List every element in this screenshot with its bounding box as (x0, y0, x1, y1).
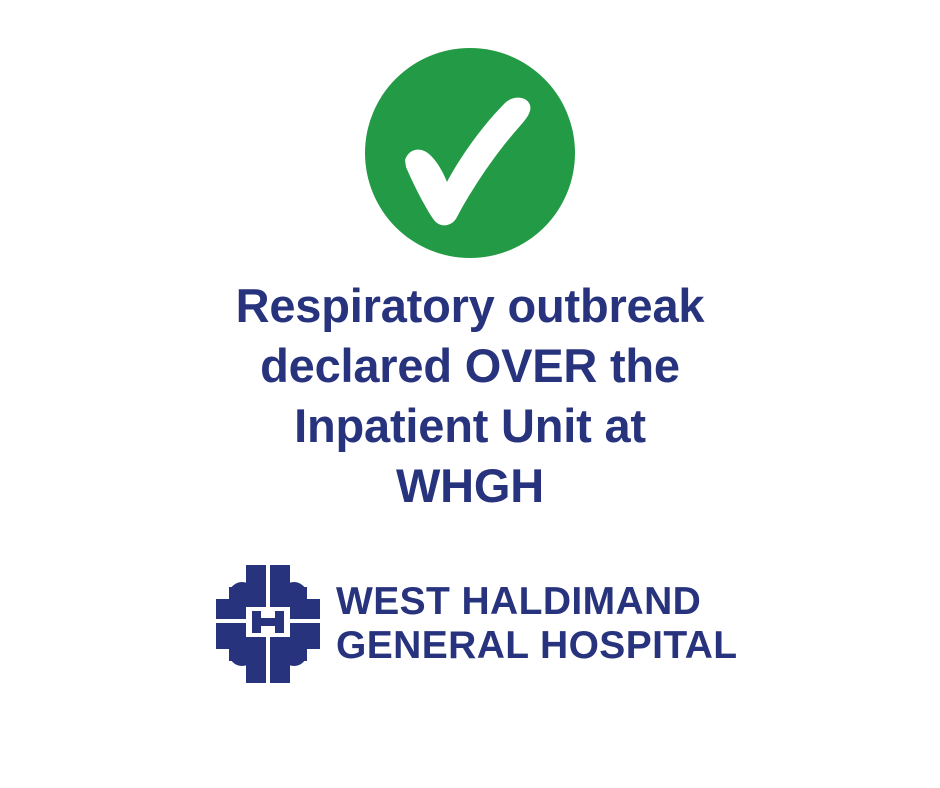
headline-line-3: Inpatient Unit at (110, 396, 830, 456)
headline-line-1: Respiratory outbreak (110, 276, 830, 336)
headline-line-2: declared OVER the (110, 336, 830, 396)
wordmark-line-2: GENERAL HOSPITAL (336, 624, 737, 668)
headline-line-4: WHGH (110, 456, 830, 516)
hospital-wordmark: WEST HALDIMAND GENERAL HOSPITAL (336, 580, 737, 668)
announcement-poster: Respiratory outbreak declared OVER the I… (0, 0, 940, 788)
hospital-cross-h-logo-icon (216, 565, 320, 683)
headline: Respiratory outbreak declared OVER the I… (0, 276, 940, 516)
wordmark-line-1: WEST HALDIMAND (336, 580, 737, 624)
checkmark-circle-icon (365, 48, 575, 258)
hospital-logo-lockup: WEST HALDIMAND GENERAL HOSPITAL (216, 563, 736, 685)
